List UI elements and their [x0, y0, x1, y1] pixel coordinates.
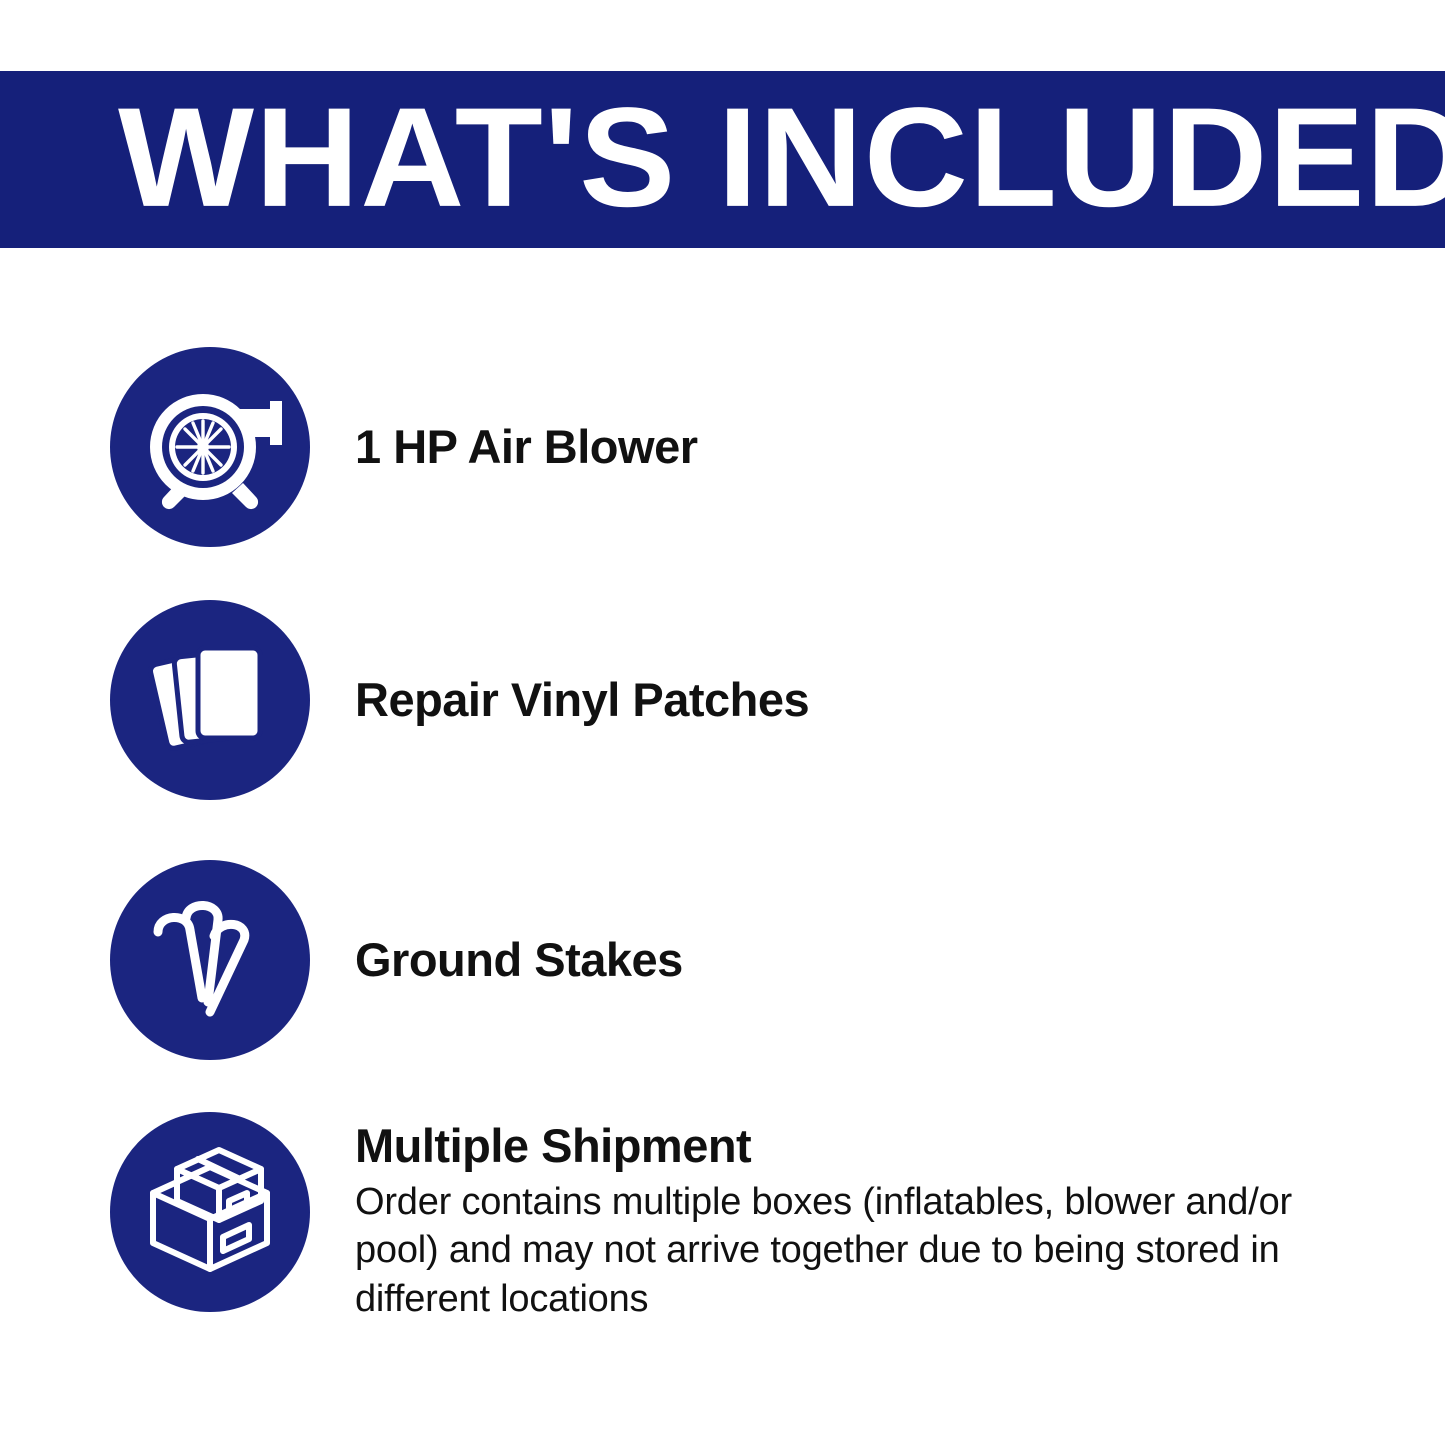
air-blower-icon — [136, 373, 284, 521]
list-item: 1 HP Air Blower — [0, 347, 1445, 547]
feature-icon-badge — [110, 600, 310, 800]
feature-icon-badge — [110, 1112, 310, 1312]
page-title: WHAT'S INCLUDED — [118, 86, 1445, 227]
header-banner: WHAT'S INCLUDED — [0, 71, 1445, 248]
list-item: Ground Stakes — [0, 860, 1445, 1060]
ground-stakes-icon — [140, 890, 280, 1030]
feature-text-group: Multiple Shipment Order contains multipl… — [355, 1112, 1365, 1324]
list-item: Repair Vinyl Patches — [0, 600, 1445, 800]
feature-description: Order contains multiple boxes (inflatabl… — [355, 1178, 1365, 1324]
feature-title: Multiple Shipment — [355, 1120, 1365, 1173]
feature-text-group: Ground Stakes — [355, 860, 683, 1060]
list-item: Multiple Shipment Order contains multipl… — [0, 1112, 1445, 1324]
feature-icon-badge — [110, 347, 310, 547]
feature-text-group: Repair Vinyl Patches — [355, 600, 809, 800]
feature-title: Repair Vinyl Patches — [355, 674, 809, 727]
feature-title: Ground Stakes — [355, 934, 683, 987]
feature-title: 1 HP Air Blower — [355, 421, 698, 474]
feature-text-group: 1 HP Air Blower — [355, 347, 698, 547]
stacked-boxes-icon — [137, 1139, 283, 1285]
vinyl-patches-icon — [140, 630, 280, 770]
feature-icon-badge — [110, 860, 310, 1060]
